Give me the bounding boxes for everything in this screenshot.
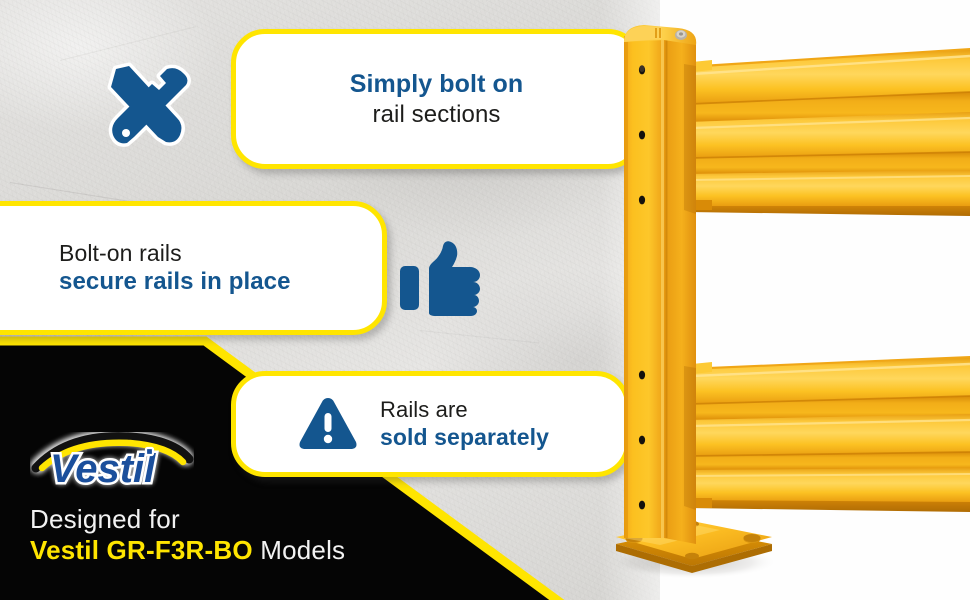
guardrail-post [624, 25, 696, 544]
upper-rail-section [684, 48, 970, 216]
model-code: Vestil GR-F3R-BO [30, 535, 253, 565]
callout-line-secondary: sold separately [380, 424, 549, 451]
callout-line-secondary: secure rails in place [59, 268, 291, 296]
callout-card-bolt-on: Simply bolt on rail sections [231, 29, 642, 169]
infographic-canvas: Simply bolt on rail sections Bolt-on rai… [0, 0, 970, 600]
lower-rail-section [684, 356, 970, 512]
vestil-logo: Vestil Vestil Vestil [30, 432, 194, 496]
texture-scratch [420, 330, 539, 344]
model-line: Vestil GR-F3R-BO Models [30, 535, 330, 566]
callout-card-secure-rails: Bolt-on rails secure rails in place [0, 201, 387, 335]
svg-text:Vestil: Vestil [50, 447, 156, 491]
callout-line-primary: Bolt-on rails [59, 240, 182, 267]
callout-line-primary: Simply bolt on [350, 70, 524, 99]
designed-for-label: Designed for [30, 504, 330, 535]
model-word: Models [260, 535, 345, 565]
product-image-guardrail [600, 0, 970, 600]
callout-line-primary: Rails are [380, 397, 549, 423]
thumbs-up-icon [398, 241, 482, 317]
tools-icon [98, 56, 198, 156]
callout-line-secondary: rail sections [372, 101, 500, 129]
brand-block: Vestil Vestil Vestil Designed for Vestil… [30, 432, 330, 565]
callout-text-group: Rails are sold separately [380, 397, 549, 451]
